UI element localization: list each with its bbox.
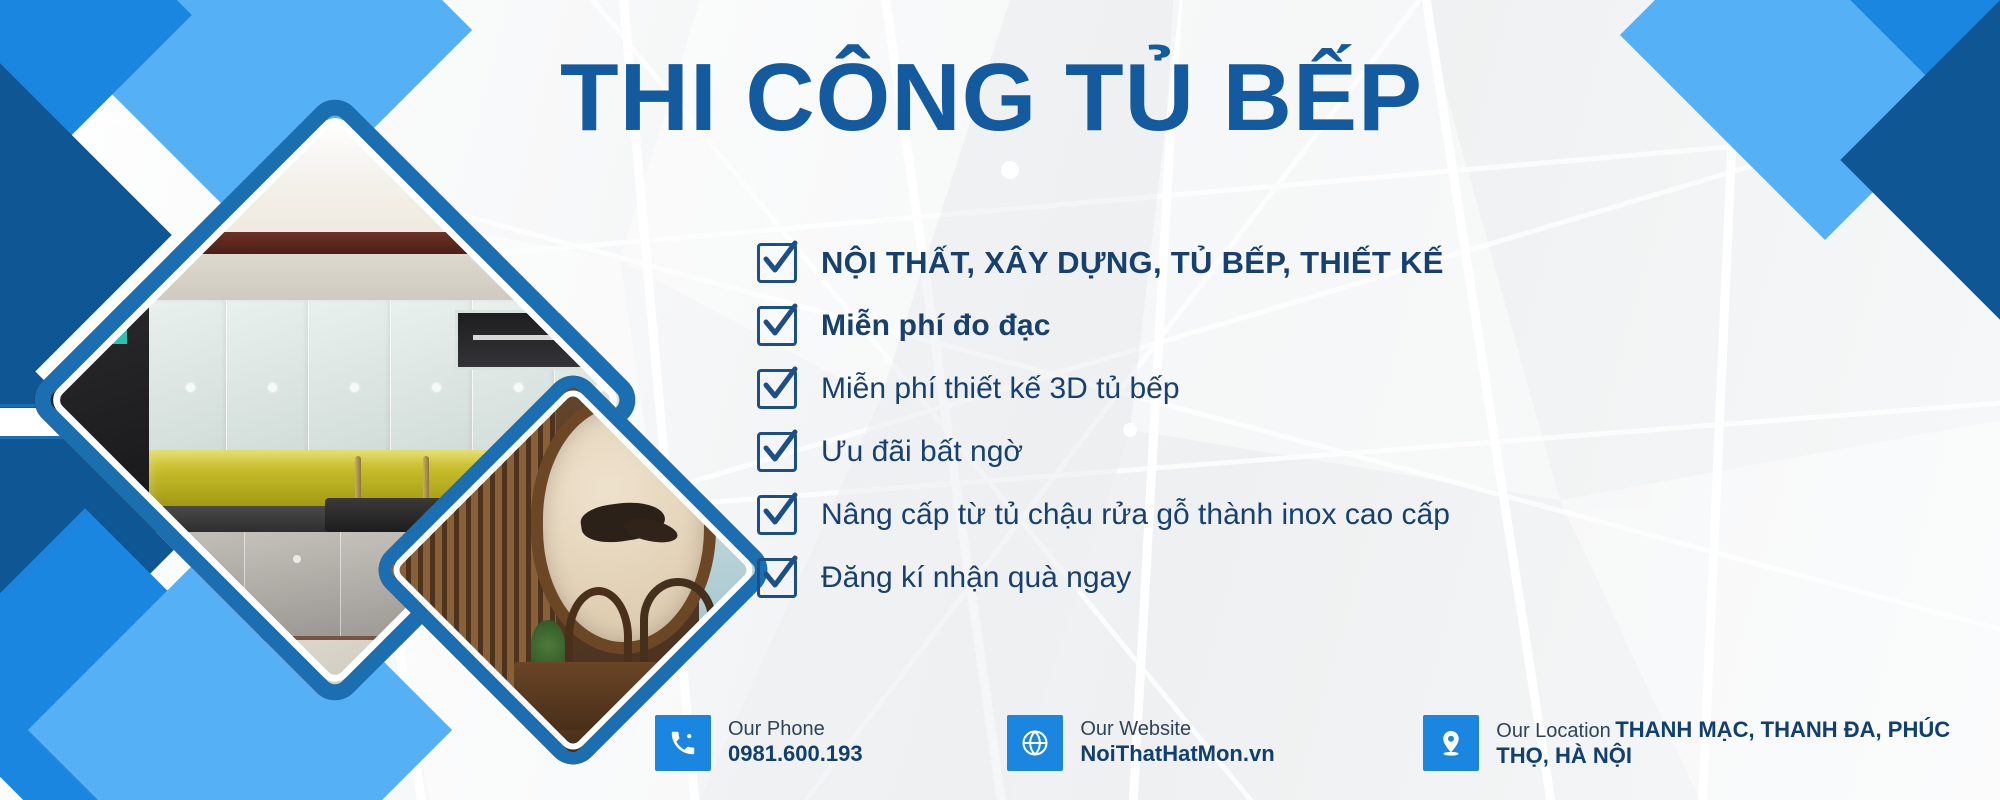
feature-item-1: Miễn phí đo đạc [757, 303, 1877, 349]
contact-website-label: Our Website [1080, 718, 1191, 740]
checkbox-icon [757, 432, 797, 472]
promo-banner: THI CÔNG TỦ BẾP NỘI THẤT, XÂY DỰNG, TỦ B… [0, 0, 2000, 800]
contact-location-label: Our Location [1496, 720, 1611, 742]
globe-icon [1007, 715, 1063, 771]
checkbox-icon [757, 495, 797, 535]
checkbox-icon [757, 558, 797, 598]
contact-phone-value: 0981.600.193 [728, 741, 863, 766]
checkbox-icon [757, 369, 797, 409]
page-title: THI CÔNG TỦ BẾP [560, 48, 1423, 148]
contact-phone-label: Our Phone [728, 718, 825, 740]
feature-label: Miễn phí thiết kế 3D tủ bếp [821, 372, 1180, 406]
feature-label: Đăng kí nhận quà ngay [821, 561, 1131, 595]
feature-item-3: Ưu đãi bất ngờ [757, 429, 1877, 475]
contact-website[interactable]: Our Website NoiThatHatMon.vn [1007, 715, 1337, 771]
phone-icon [655, 715, 711, 771]
contact-website-text: Our Website NoiThatHatMon.vn [1080, 718, 1337, 767]
contact-phone[interactable]: Our Phone 0981.600.193 [655, 715, 921, 771]
feature-item-2: Miễn phí thiết kế 3D tủ bếp [757, 366, 1877, 412]
contact-location-text: Our Location THANH MẠC, THANH ĐA, PHÚC T… [1496, 717, 2000, 770]
feature-label: NỘI THẤT, XÂY DỰNG, TỦ BẾP, THIẾT KẾ [821, 245, 1444, 281]
feature-item-4: Nâng cấp từ tủ chậu rửa gỗ thành inox ca… [757, 492, 1877, 538]
feature-item-5: Đăng kí nhận quà ngay [757, 555, 1877, 601]
contact-website-value: NoiThatHatMon.vn [1080, 741, 1274, 766]
checkbox-icon [757, 243, 797, 283]
contact-phone-text: Our Phone 0981.600.193 [728, 718, 921, 767]
map-pin-icon [1423, 715, 1479, 771]
feature-list: NỘI THẤT, XÂY DỰNG, TỦ BẾP, THIẾT KẾ Miễ… [757, 240, 1877, 618]
feature-label: Miễn phí đo đạc [821, 309, 1051, 343]
contact-location[interactable]: Our Location THANH MẠC, THANH ĐA, PHÚC T… [1423, 715, 2000, 771]
checkbox-icon [757, 306, 797, 346]
feature-label: Ưu đãi bất ngờ [821, 435, 1023, 469]
feature-item-0: NỘI THẤT, XÂY DỰNG, TỦ BẾP, THIẾT KẾ [757, 240, 1877, 286]
contact-strip: Our Phone 0981.600.193 Our Website NoiTh… [655, 715, 2000, 771]
feature-label: Nâng cấp từ tủ chậu rửa gỗ thành inox ca… [821, 498, 1450, 532]
